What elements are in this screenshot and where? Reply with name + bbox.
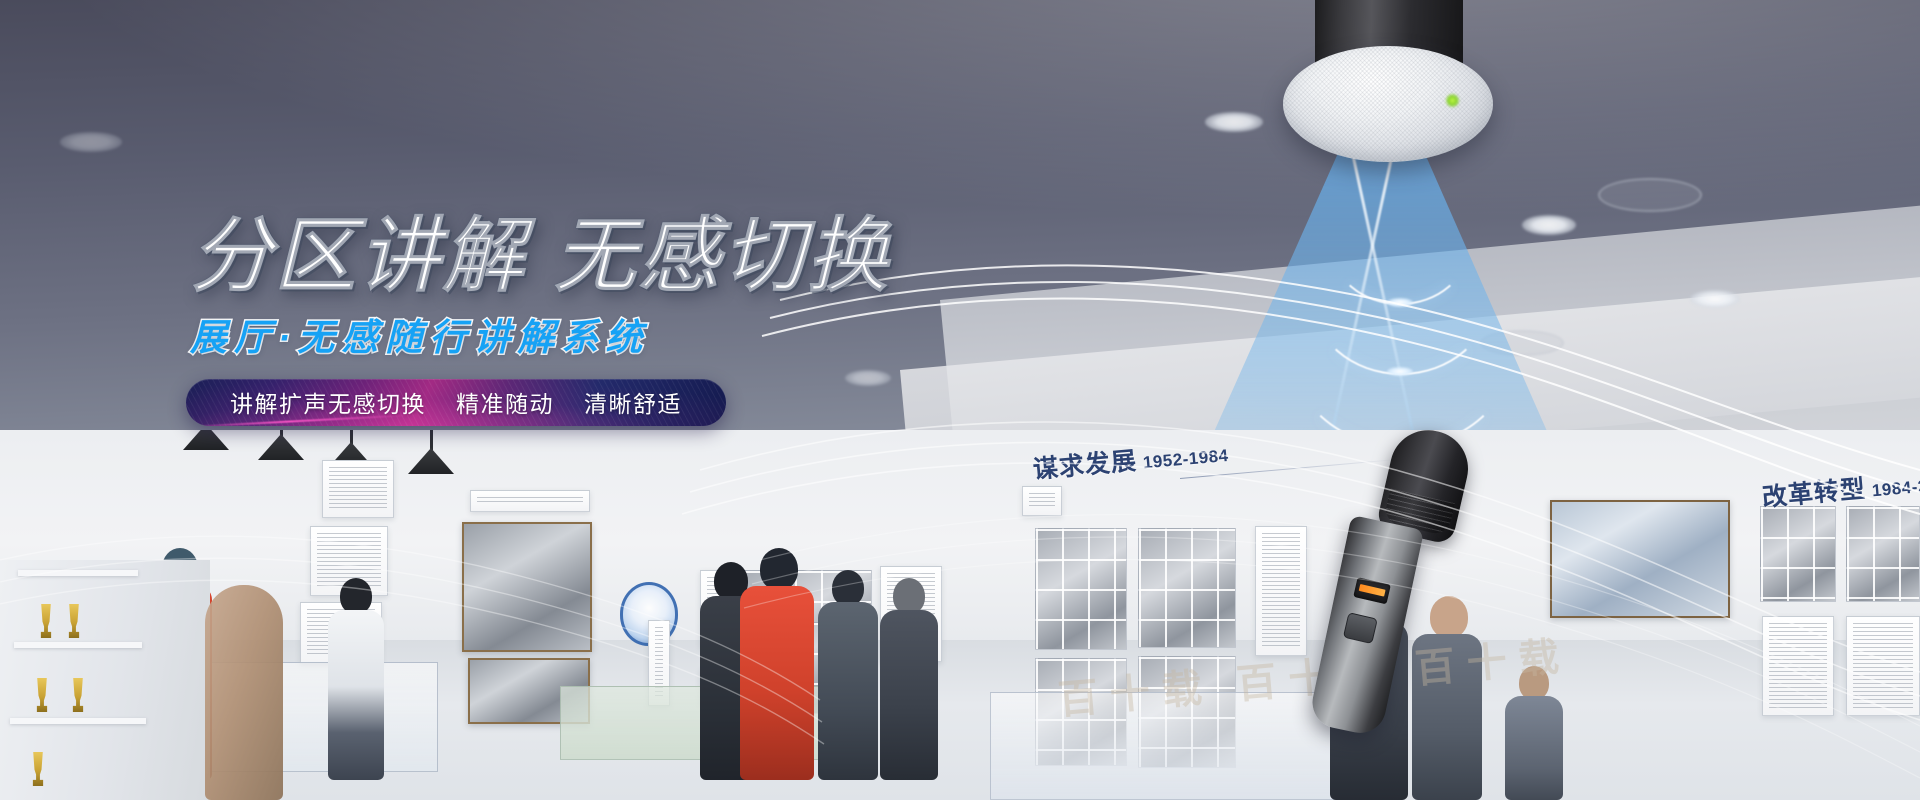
banner-headline: 分区讲解无感切换 — [190, 215, 890, 299]
exhibit-photo-grid — [1138, 528, 1236, 648]
trophy-award — [34, 678, 50, 712]
ceiling-downlight — [1205, 112, 1263, 132]
ceiling-vent-ring — [1598, 178, 1702, 212]
historic-photo-frame — [462, 522, 592, 652]
exhibit-photo-grid — [1760, 506, 1836, 602]
banner-text-block: 分区讲解无感切换 展厅·无感随行讲解系统 讲解扩声无感切换 精准随动 清晰舒适 — [190, 215, 890, 426]
visitor-body — [1505, 696, 1563, 800]
cabinet-shelf — [14, 642, 142, 648]
trophy-award — [70, 678, 86, 712]
banner-subtitle: 展厅·无感随行讲解系统 — [190, 307, 890, 361]
sound-wave-arc — [1288, 243, 1516, 448]
ceiling-downlight — [60, 132, 122, 152]
exhibit-text-panel — [1255, 526, 1307, 656]
exhibit-text-panel — [1846, 616, 1920, 716]
headline-left-phrase: 分区讲解 — [190, 211, 526, 302]
headline-right-phrase: 无感切换 — [554, 211, 890, 302]
visitor-body — [328, 610, 384, 780]
visitor-head — [832, 570, 864, 606]
ceiling-downlight — [1690, 290, 1740, 308]
trophy-award — [30, 752, 46, 786]
pendant-lamp-rod — [430, 430, 433, 450]
exhibit-section-years: 1984-2010 — [1871, 474, 1920, 500]
museum-hall-scene — [0, 430, 1920, 800]
trophy-award — [38, 604, 54, 638]
exhibit-photo-grid — [1035, 528, 1127, 650]
trophy-display-cabinet — [0, 560, 210, 800]
pendant-lamp-rod — [350, 430, 353, 444]
cabinet-shelf — [10, 718, 146, 724]
feature-highlight-pill: 讲解扩声无感切换 精准随动 清晰舒适 — [186, 379, 726, 426]
mural-painting-frame — [1550, 500, 1730, 618]
banner-stage: 谋求发展1952-1984 改革转型1984-2010 百十载 百十载 百十载 — [0, 0, 1920, 800]
visitor-figure — [328, 578, 384, 780]
visitor-figure — [740, 548, 814, 780]
visitor-figure — [818, 570, 878, 780]
exhibit-caption-panel — [470, 490, 590, 512]
cabinet-shelf — [18, 570, 138, 576]
terracotta-statue — [205, 585, 283, 800]
exhibit-photo-grid — [1846, 506, 1920, 602]
visitor-body — [880, 610, 938, 780]
feature-item-2: 精准随动 — [456, 385, 554, 419]
visitor-body — [818, 602, 878, 780]
exhibit-text-panel — [1022, 486, 1062, 516]
speaker-status-led — [1446, 94, 1459, 107]
visitor-figure — [880, 578, 938, 780]
visitor-head — [340, 578, 372, 614]
ceiling-downlight — [1522, 215, 1576, 235]
feature-item-1: 讲解扩声无感切换 — [230, 385, 426, 419]
feature-item-3: 清晰舒适 — [584, 385, 682, 419]
visitor-head — [760, 548, 798, 590]
visitor-head — [893, 578, 925, 614]
exhibit-text-panel — [1762, 616, 1834, 716]
visitor-body — [740, 586, 814, 780]
ceiling-speaker — [1283, 0, 1493, 184]
exhibit-text-panel — [322, 460, 394, 518]
trophy-award — [66, 604, 82, 638]
exhibit-section-years: 1952-1984 — [1142, 446, 1229, 472]
speaker-grille — [1283, 46, 1493, 162]
